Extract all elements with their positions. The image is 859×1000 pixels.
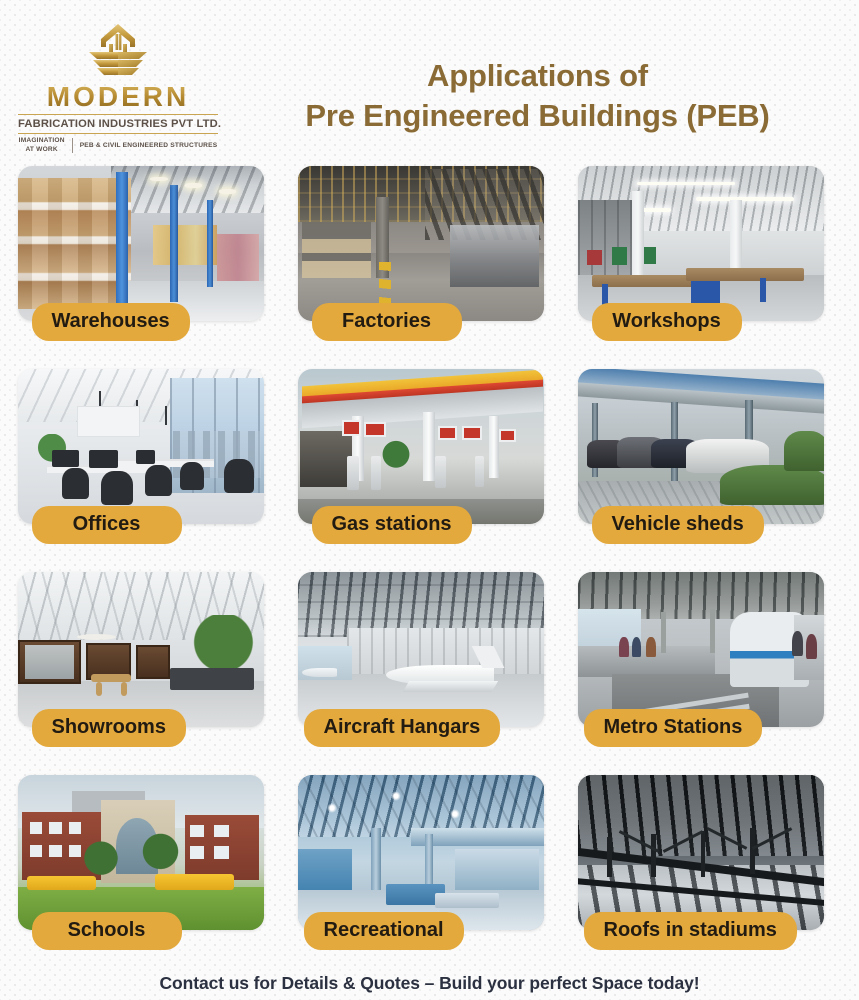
brand-name: MODERN — [18, 82, 218, 111]
page-title-line-2: Pre Engineered Buildings (PEB) — [232, 96, 843, 136]
application-card[interactable]: Schools — [10, 769, 290, 972]
application-card[interactable]: Showrooms — [10, 566, 290, 769]
showroom-interior-photo — [18, 572, 264, 727]
school-building-photo — [18, 775, 264, 930]
factory-floor-photo — [298, 166, 544, 321]
application-card[interactable]: Roofs in stadiums — [570, 769, 850, 972]
brand-tagline-row: IMAGINATION AT WORK PEB & CIVIL ENGINEER… — [18, 137, 218, 153]
brand-tagline-divider — [72, 138, 73, 153]
warehouse-interior-photo — [18, 166, 264, 321]
brand-tagline-left-line2: AT WORK — [19, 146, 65, 154]
brand-tagline-left-line1: IMAGINATION — [19, 137, 65, 145]
application-card[interactable]: Gas stations — [290, 363, 570, 566]
brand-subtitle: FABRICATION INDUSTRIES PVT LTD. — [18, 118, 218, 130]
car-parking-shed-photo — [578, 369, 824, 524]
brand-logo-block: MODERN FABRICATION INDUSTRIES PVT LTD. I… — [18, 22, 218, 154]
footer-cta: Contact us for Details & Quotes – Build … — [0, 973, 859, 994]
brand-tagline-left: IMAGINATION AT WORK — [19, 137, 65, 153]
application-card[interactable]: Metro Stations — [570, 566, 850, 769]
card-label: Vehicle sheds — [592, 506, 764, 544]
building-logo-icon — [79, 22, 157, 78]
application-card[interactable]: Recreational — [290, 769, 570, 972]
workshop-interior-photo — [578, 166, 824, 321]
card-label: Warehouses — [32, 303, 190, 341]
card-label: Factories — [312, 303, 462, 341]
page-title-line-1: Applications of — [232, 56, 843, 96]
card-label: Recreational — [304, 912, 464, 950]
card-label: Metro Stations — [584, 709, 763, 747]
stadium-roof-truss-photo — [578, 775, 824, 930]
application-card[interactable]: Vehicle sheds — [570, 363, 850, 566]
brand-divider-top — [18, 114, 218, 115]
application-card[interactable]: Offices — [10, 363, 290, 566]
application-card[interactable]: Factories — [290, 160, 570, 363]
recreational-hall-photo — [298, 775, 544, 930]
application-card[interactable]: Warehouses — [10, 160, 290, 363]
card-label: Gas stations — [312, 506, 472, 544]
page-title: Applications of Pre Engineered Buildings… — [232, 56, 843, 137]
gas-station-canopy-photo — [298, 369, 544, 524]
brand-divider-bottom — [18, 133, 218, 134]
aircraft-hangar-photo — [298, 572, 544, 727]
open-plan-office-photo — [18, 369, 264, 524]
brand-tagline-right: PEB & CIVIL ENGINEERED STRUCTURES — [80, 142, 218, 149]
card-label: Roofs in stadiums — [584, 912, 797, 950]
page-header: MODERN FABRICATION INDUSTRIES PVT LTD. I… — [0, 0, 859, 160]
application-card[interactable]: Aircraft Hangars — [290, 566, 570, 769]
application-card[interactable]: Workshops — [570, 160, 850, 363]
metro-station-platform-photo — [578, 572, 824, 727]
applications-grid: Warehouses Factories — [0, 160, 859, 972]
card-label: Schools — [32, 912, 182, 950]
card-label: Showrooms — [32, 709, 186, 747]
card-label: Aircraft Hangars — [304, 709, 501, 747]
card-label: Workshops — [592, 303, 742, 341]
card-label: Offices — [32, 506, 182, 544]
